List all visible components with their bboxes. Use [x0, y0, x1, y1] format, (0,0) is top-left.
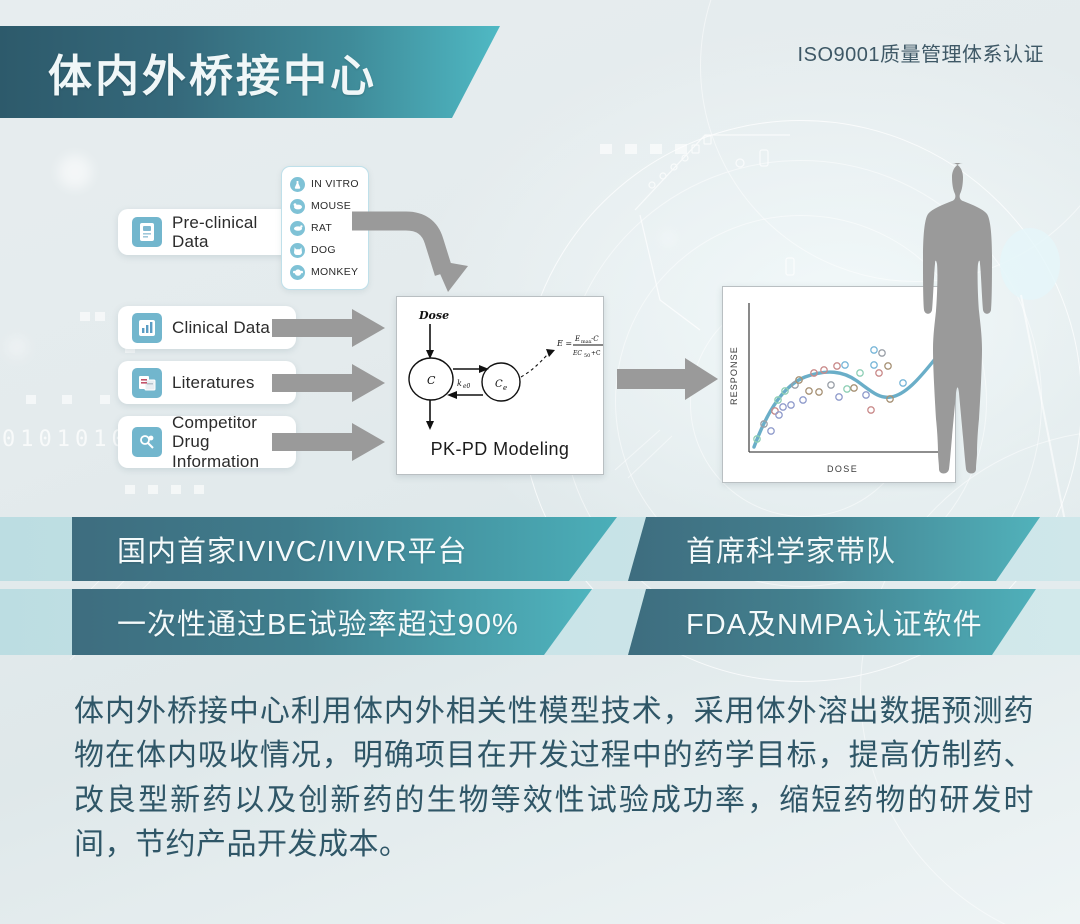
description-paragraph: 体内外桥接中心利用体内外相关性模型技术，采用体外溶出数据预测药物在体内吸收情况，…: [74, 690, 1034, 868]
pkpd-schematic: Dose C C e k e0 E = E max ·C EC 50 +C: [397, 297, 603, 437]
feature-label: 国内首家IVIVC/IVIVR平台: [117, 528, 468, 570]
feature-label: 一次性通过BE试验率超过90%: [117, 601, 519, 643]
feature-banner-1[interactable]: 国内首家IVIVC/IVIVR平台: [72, 517, 617, 581]
feature-label: 首席科学家带队: [686, 528, 896, 570]
chart-xlabel: DOSE: [827, 464, 858, 474]
chart-ylabel: RESPONSE: [729, 346, 739, 405]
svg-text:k: k: [457, 379, 462, 388]
poster-root: 010101010 体内外桥接中心 ISO9001质量管理体系认证: [0, 0, 1080, 924]
feature-banner-4[interactable]: FDA及NMPA认证软件: [628, 589, 1036, 655]
svg-text:EC: EC: [572, 350, 582, 357]
human-silhouette: [900, 155, 1080, 485]
svg-text:C: C: [427, 374, 436, 387]
pkpd-caption: PK-PD Modeling: [397, 439, 603, 460]
svg-text:C: C: [495, 379, 503, 390]
svg-text:Dose: Dose: [418, 309, 449, 322]
svg-text:50: 50: [584, 353, 590, 359]
svg-text:E =: E =: [556, 339, 572, 348]
svg-text:e: e: [503, 384, 507, 392]
svg-text:·C: ·C: [591, 335, 599, 343]
feature-banner-3[interactable]: 一次性通过BE试验率超过90%: [72, 589, 592, 655]
pkpd-model-box: Dose C C e k e0 E = E max ·C EC 50 +C: [396, 296, 604, 475]
feature-banner-2[interactable]: 首席科学家带队: [628, 517, 1040, 581]
svg-text:+C: +C: [591, 350, 601, 357]
svg-text:E: E: [574, 335, 580, 343]
feature-label: FDA及NMPA认证软件: [686, 601, 983, 643]
svg-text:e0: e0: [463, 383, 471, 390]
